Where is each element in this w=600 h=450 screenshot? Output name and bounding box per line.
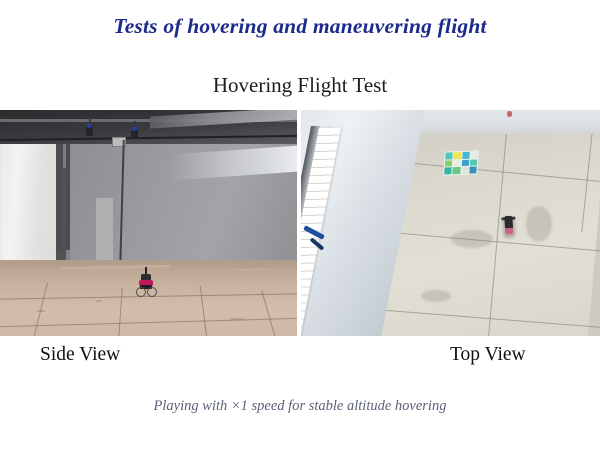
footer-caption: Playing with ×1 speed for stable altitud… (0, 398, 600, 415)
marker-cell (469, 167, 477, 174)
wall-pillar-edge (66, 130, 70, 250)
drone-propeller (136, 287, 146, 297)
floor-scuff (95, 300, 102, 302)
fiducial-marker (443, 150, 479, 175)
marker-cell (444, 168, 452, 175)
top-view-scene (301, 110, 600, 336)
marker-cell (461, 159, 469, 166)
ceiling (0, 110, 297, 144)
top-view-label: Top View (450, 344, 526, 366)
white-curtain (0, 134, 56, 274)
marker-cell (445, 160, 453, 167)
ceiling-rail (0, 135, 297, 141)
hovering-drone (501, 214, 517, 241)
floor-scuff (36, 310, 46, 312)
marker-cell (470, 159, 478, 166)
floor-smudge (421, 290, 451, 302)
floor-speck (507, 111, 512, 117)
mocap-camera-icon (86, 127, 93, 136)
marker-cell (461, 167, 469, 174)
side-view-image (0, 110, 297, 336)
top-view-image (301, 110, 600, 336)
marker-cell (454, 152, 462, 159)
side-view-scene (0, 110, 297, 336)
hovering-drone (137, 267, 155, 295)
floor-scuff (230, 318, 244, 320)
page-title: Tests of hovering and maneuvering flight (0, 14, 600, 39)
ceiling-light-strip (150, 110, 297, 129)
marker-cell (453, 160, 461, 167)
wall-pillar (56, 126, 63, 252)
side-view-label: Side View (40, 344, 120, 366)
marker-cell (470, 151, 478, 158)
mocap-camera-icon (131, 130, 138, 139)
marker-cell (445, 152, 453, 159)
drone-accent (505, 228, 513, 235)
marker-cell (452, 167, 460, 174)
page-subtitle: Hovering Flight Test (0, 73, 600, 98)
floor-smudge (526, 206, 552, 242)
marker-cell (462, 152, 470, 159)
video-panel-container (0, 110, 600, 336)
drone-propeller (147, 287, 157, 297)
wall-highlight (170, 145, 297, 180)
